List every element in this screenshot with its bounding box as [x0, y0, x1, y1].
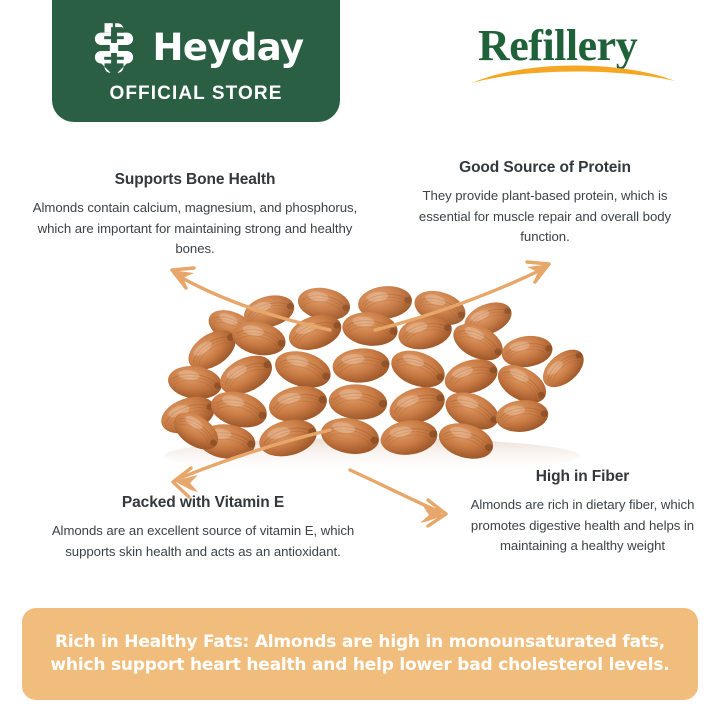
fact-block-fiber: High in Fiber Almonds are rich in dietar… [465, 467, 700, 557]
fact-body: Almonds contain calcium, magnesium, and … [30, 198, 360, 259]
fact-title: Supports Bone Health [30, 170, 360, 189]
arrow-head-fiber [420, 506, 446, 523]
fact-title: Good Source of Protein [400, 158, 690, 177]
refillery-logo: Refillery [470, 24, 680, 90]
fact-body: They provide plant-based protein, which … [400, 186, 690, 247]
brand-lockup: Heyday [88, 22, 303, 74]
brand-name: Heyday [152, 29, 303, 66]
brand-header-panel: Heyday OFFICIAL STORE [52, 0, 340, 122]
fact-body: Almonds are an excellent source of vitam… [48, 521, 358, 562]
brand-subtitle: OFFICIAL STORE [109, 83, 282, 105]
fact-block-bone-health: Supports Bone Health Almonds contain cal… [30, 170, 360, 260]
fact-title: Packed with Vitamin E [48, 493, 358, 512]
clover-four-petal-icon [88, 22, 140, 74]
underline-swoosh-icon [470, 62, 680, 88]
banner-text: Rich in Healthy Fats: Almonds are high i… [48, 631, 672, 678]
almond-pile-photo [150, 280, 590, 480]
fact-body: Almonds are rich in dietary fiber, which… [465, 495, 700, 556]
fact-block-protein: Good Source of Protein They provide plan… [400, 158, 690, 248]
infographic-page: Heyday OFFICIAL STORE Refillery [0, 0, 720, 720]
fact-title: High in Fiber [465, 467, 700, 486]
fact-block-vitamin-e: Packed with Vitamin E Almonds are an exc… [48, 493, 358, 562]
healthy-fats-banner: Rich in Healthy Fats: Almonds are high i… [22, 608, 698, 700]
